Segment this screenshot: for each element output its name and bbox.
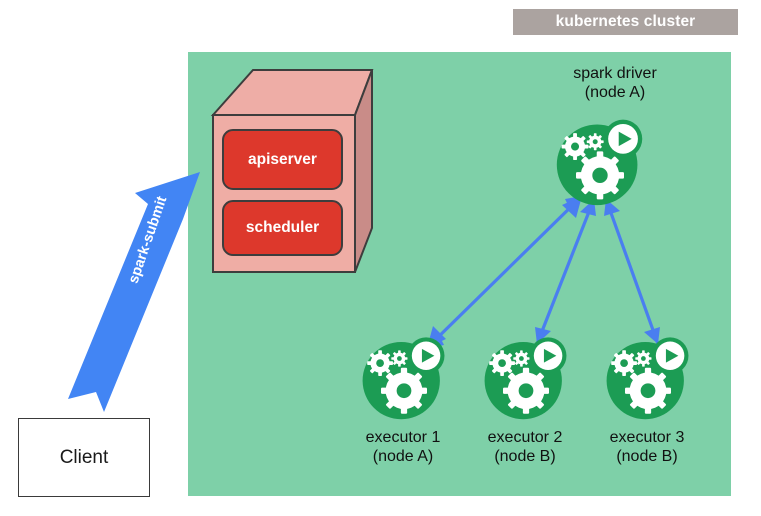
executor-3-icon — [607, 337, 689, 419]
scheduler-label: scheduler — [246, 219, 319, 237]
executor-3-label-line2: (node B) — [577, 447, 717, 466]
connector-driver-executor1 — [427, 196, 582, 348]
kubernetes-cluster-badge-label: kubernetes cluster — [556, 13, 696, 31]
executor-2-label-line2: (node B) — [455, 447, 595, 466]
executor-3-label-line1: executor 3 — [577, 428, 717, 447]
spark-submit-arrow — [68, 172, 200, 412]
apiserver-label: apiserver — [248, 151, 317, 169]
executor-2-label-line1: executor 2 — [455, 428, 595, 447]
apiserver-box[interactable]: apiserver — [222, 129, 343, 190]
executor-1-label: executor 1 (node A) — [333, 428, 473, 466]
client-box[interactable]: Client — [18, 418, 150, 497]
spark-driver-label: spark driver (node A) — [520, 64, 710, 102]
spark-driver-icon — [557, 120, 642, 205]
executor-1-label-line2: (node A) — [333, 447, 473, 466]
executor-2-icon — [485, 337, 567, 419]
kubernetes-cluster-badge: kubernetes cluster — [513, 9, 738, 35]
diagram-canvas: apiserver scheduler spark-submit kuberne… — [0, 0, 761, 516]
spark-driver-label-line1: spark driver — [520, 64, 710, 83]
executor-1-label-line1: executor 1 — [333, 428, 473, 447]
scheduler-box[interactable]: scheduler — [222, 200, 343, 256]
connector-driver-executor2 — [535, 199, 596, 344]
executor-2-label: executor 2 (node B) — [455, 428, 595, 466]
connector-driver-executor3 — [604, 199, 660, 344]
client-label: Client — [60, 447, 109, 469]
executor-3-label: executor 3 (node B) — [577, 428, 717, 466]
spark-driver-label-line2: (node A) — [520, 83, 710, 102]
executor-1-icon — [363, 337, 445, 419]
